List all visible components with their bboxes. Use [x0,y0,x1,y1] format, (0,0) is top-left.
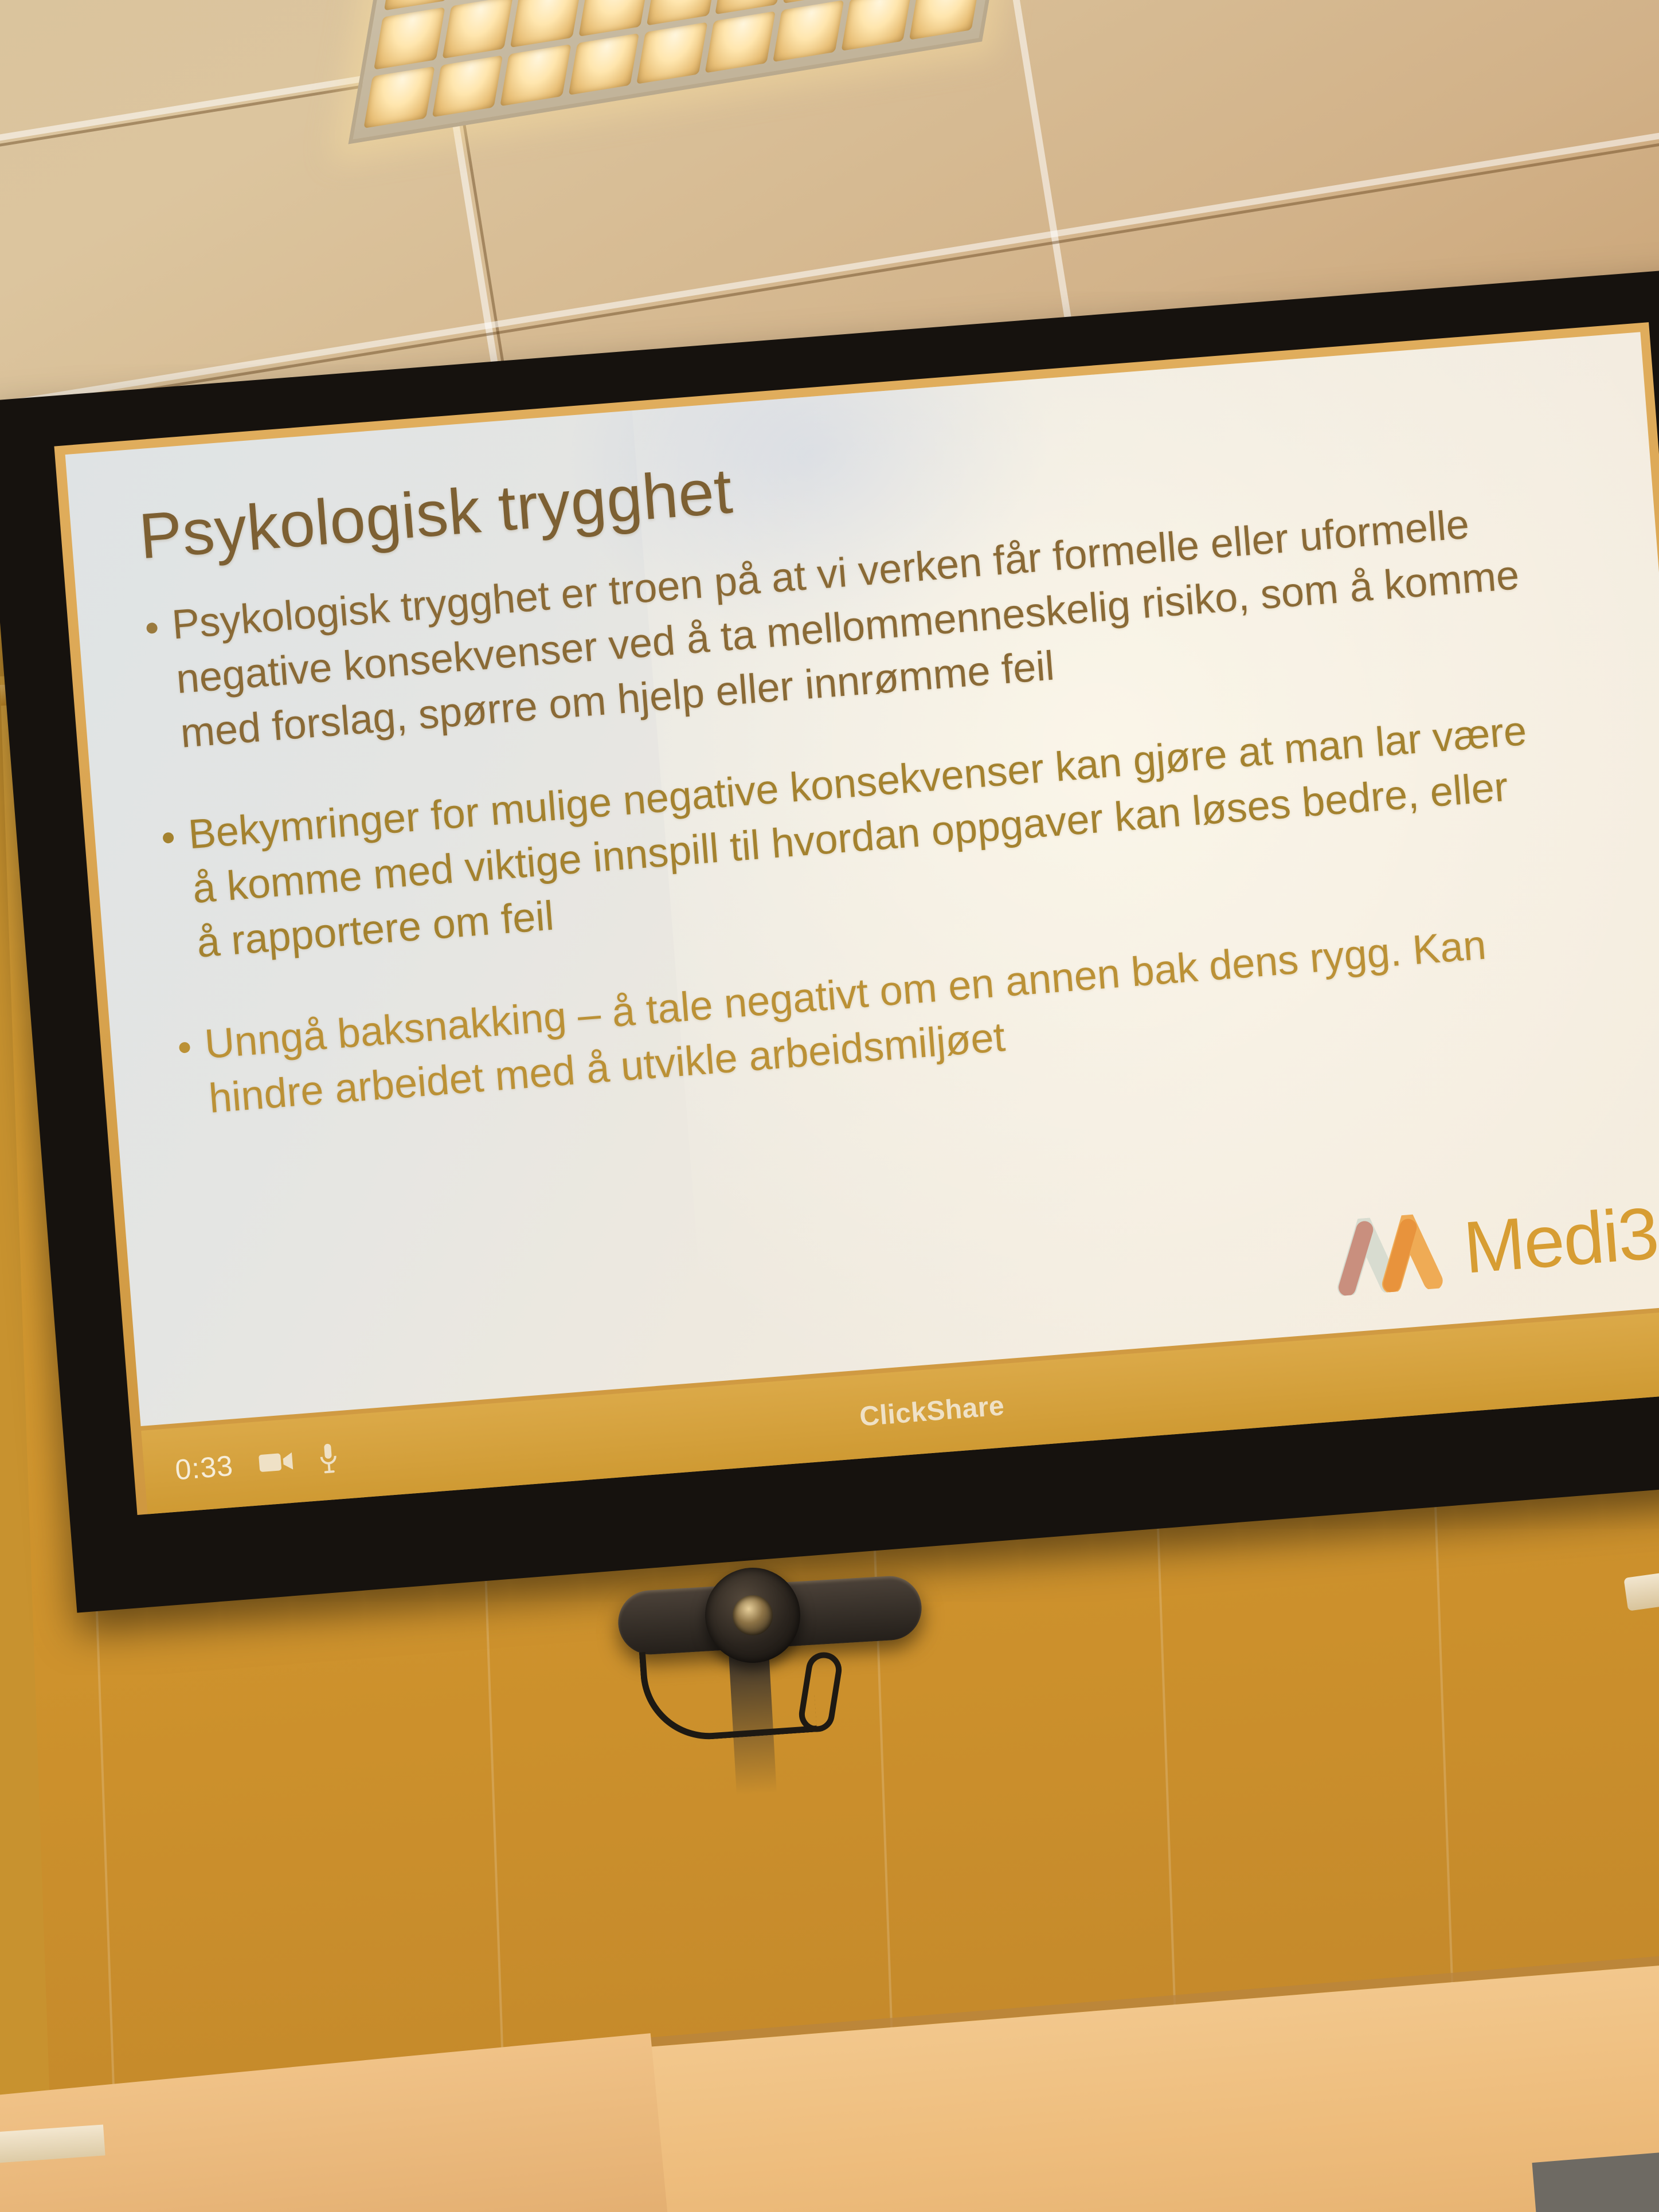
light-cell [715,0,786,14]
light-cell [568,33,639,95]
light-cell [363,66,435,128]
projection-screen[interactable]: Psykologisk trygghet Psykologisk trygghe… [0,267,1659,1612]
light-cell [636,22,707,84]
bullet-dot-icon [162,832,174,844]
bullet-dot-icon [146,623,158,634]
light-cell [374,7,445,70]
light-cell [510,0,581,48]
light-cell [578,0,649,37]
light-cell [647,0,718,25]
light-cell [442,0,513,58]
light-cell [432,55,503,118]
light-cell [841,0,912,51]
meeting-room-photo: Psykologisk trygghet Psykologisk trygghe… [0,0,1659,2212]
medi3-double-chevron-logo-icon [1329,1212,1447,1297]
light-cell [705,11,776,73]
light-cell [773,0,844,62]
medi3-wordmark: Medi3 [1461,1197,1659,1285]
camera-lens-icon [733,1595,773,1635]
light-cell [909,0,980,40]
light-cell [500,44,571,107]
bullet-dot-icon [179,1042,190,1054]
right-edge-object [1623,1572,1659,1611]
slide-bullet-list: Psykologisk trygghet er troen på at vi v… [144,488,1625,1129]
projected-slide: Psykologisk trygghet Psykologisk trygghe… [65,332,1659,1426]
light-cell [783,0,854,3]
